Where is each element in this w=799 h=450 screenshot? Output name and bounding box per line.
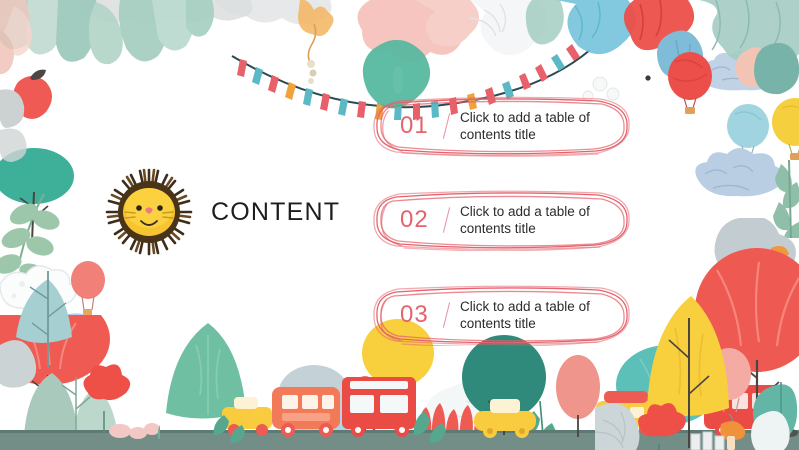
blue-cloud-topleft xyxy=(704,50,780,90)
toc-text-02[interactable]: Click to add a table of contents title xyxy=(460,203,625,237)
ground-strip xyxy=(0,432,799,450)
small-gray-houses xyxy=(691,432,724,450)
teal-tree-bottom xyxy=(616,345,720,425)
teal-leaf-bush-right xyxy=(753,382,797,444)
white-bush-texture xyxy=(452,391,496,433)
green-vine-right xyxy=(773,160,799,238)
content-heading-block: CONTENT xyxy=(105,168,340,256)
red-bus-right xyxy=(704,385,782,437)
pink-flower-cluster xyxy=(350,0,477,63)
pink-balloon-right xyxy=(707,348,751,440)
coral-oval-tree xyxy=(556,355,600,437)
green-sprig-1 xyxy=(524,401,556,447)
teal-grass-right xyxy=(599,414,630,448)
lion-face-icon xyxy=(105,168,193,256)
white-bush xyxy=(424,380,526,447)
red-flower-left xyxy=(83,364,130,433)
red-flower-right xyxy=(638,403,686,450)
lion-eye-right xyxy=(157,205,163,211)
gray-fan-bush-left xyxy=(595,403,639,450)
gray-leaf-left xyxy=(0,89,24,128)
yellow-car-center xyxy=(474,399,536,438)
top-right-foliage xyxy=(526,0,799,94)
dark-teal-leaf xyxy=(754,43,799,94)
blue-pine-left xyxy=(16,271,72,367)
orange-bird xyxy=(769,246,789,260)
peach-leaf-right xyxy=(736,47,771,87)
green-leaf-vine xyxy=(0,194,62,283)
white-fan-bush xyxy=(751,411,790,450)
slide-canvas: CONTENT 01 Click to add a table of conte… xyxy=(0,0,799,450)
gray-cloud-bush-topright xyxy=(715,218,796,278)
blue-flower xyxy=(556,0,636,54)
blue-leaf-1 xyxy=(657,31,703,79)
gray-cloud-left xyxy=(0,129,27,163)
red-grass-tuft xyxy=(419,403,486,447)
bottom-left-scenery xyxy=(0,255,160,450)
toc-text-03[interactable]: Click to add a table of contents title xyxy=(460,298,625,332)
gray-small-stone xyxy=(782,429,798,437)
red-tree-left xyxy=(0,344,98,368)
top-center-flower-cluster xyxy=(298,0,636,108)
light-blue-hot-air-balloon xyxy=(727,104,769,162)
toc-number-01: 01 xyxy=(400,112,429,140)
road-line xyxy=(0,430,799,433)
gray-cloud-shape-2 xyxy=(215,0,332,25)
green-sprig-3 xyxy=(414,411,446,443)
gray-fan-texture xyxy=(595,412,625,448)
coral-balloon-left xyxy=(71,261,105,316)
white-lace-flower xyxy=(470,0,547,55)
toc-number-02: 02 xyxy=(400,206,429,234)
toc-number-03: 03 xyxy=(400,301,429,329)
teal-leaf-cluster-right xyxy=(699,0,799,66)
green-grass-left xyxy=(158,415,160,439)
toc-item-01[interactable]: 01 Click to add a table of contents titl… xyxy=(372,95,634,157)
teal-tree-left xyxy=(0,148,74,242)
toc-item-02[interactable]: 02 Click to add a table of contents titl… xyxy=(372,189,634,251)
red-flower-top xyxy=(620,0,694,50)
yellow-triangle-tree xyxy=(647,296,729,448)
toc-item-03[interactable]: 03 Click to add a table of contents titl… xyxy=(372,284,634,346)
orange-bus xyxy=(272,387,340,437)
big-red-tree-right xyxy=(695,248,799,446)
orange-mushroom xyxy=(720,421,745,450)
orange-flower xyxy=(298,0,334,36)
white-cloud-left xyxy=(0,266,76,309)
pink-stones xyxy=(109,423,160,439)
yellow-car-left xyxy=(596,391,658,435)
peach-leaf-cluster xyxy=(0,0,32,74)
page-title: CONTENT xyxy=(211,198,340,227)
toc-text-01[interactable]: Click to add a table of contents title xyxy=(460,109,625,143)
gray-bush-1 xyxy=(0,340,36,387)
blue-cloud-left xyxy=(20,309,97,348)
gray-cloud-shape xyxy=(78,0,253,24)
red-tree-bottom-left xyxy=(0,315,110,441)
green-sprig-2 xyxy=(214,415,245,443)
lion-eye-left xyxy=(136,205,142,211)
red-hot-air-balloon xyxy=(668,52,712,114)
small-yellow-car-far-left xyxy=(222,397,272,436)
green-tree-1 xyxy=(166,323,246,419)
blue-bush-1 xyxy=(288,381,372,445)
dark-dot xyxy=(645,75,650,80)
coral-small-tree xyxy=(351,376,379,449)
red-double-decker-bus xyxy=(342,377,416,437)
red-apple-left xyxy=(13,70,52,119)
dark-green-round-tree xyxy=(462,335,546,435)
blue-cloud-right xyxy=(695,148,783,196)
sage-leaf-cluster-left xyxy=(0,0,214,64)
right-balloons-decoration xyxy=(655,48,799,238)
yellow-hot-air-balloon xyxy=(772,98,799,160)
gray-blue-bush xyxy=(278,365,350,425)
sage-tree-cluster xyxy=(24,373,118,441)
